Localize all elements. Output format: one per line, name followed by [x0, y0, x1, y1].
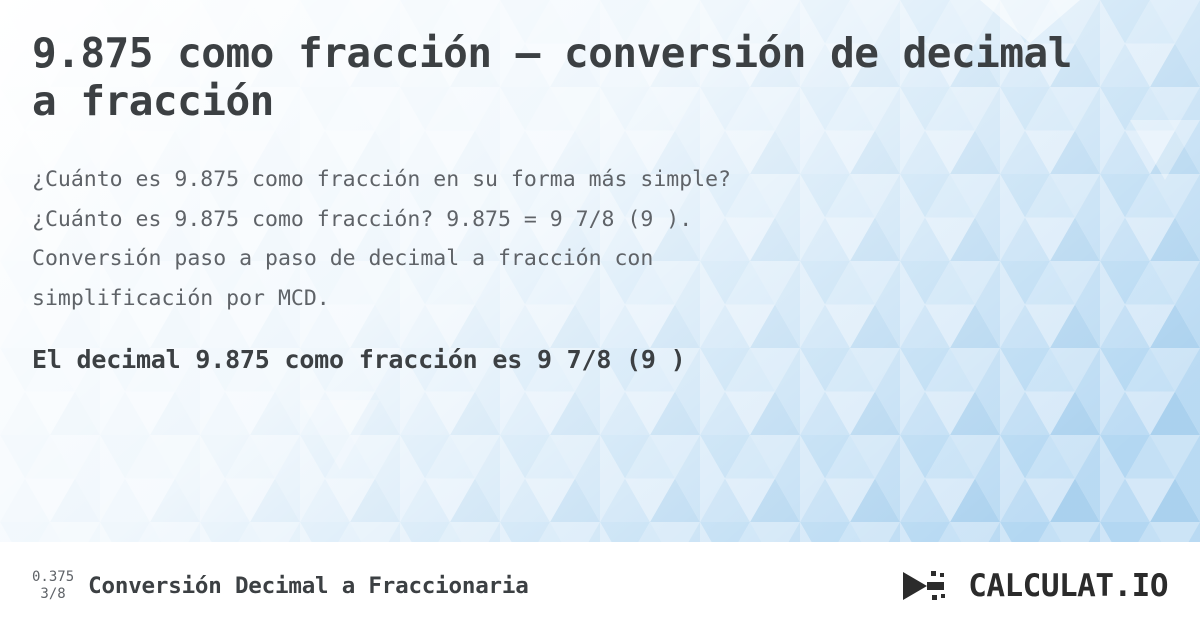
- page-title: 9.875 como fracción – conversión de deci…: [32, 30, 1092, 126]
- description-line: Conversión paso a paso de decimal a frac…: [32, 239, 1072, 279]
- calculator-arrow-icon: [901, 569, 961, 603]
- brand-group[interactable]: CALCULAT.IO: [901, 568, 1168, 604]
- brand-name: CALCULAT.IO: [968, 568, 1168, 604]
- page-root: 9.875 como fracción – conversión de deci…: [0, 0, 1200, 630]
- footer-left-group: 0.375 3/8 Conversión Decimal a Fracciona…: [32, 569, 529, 604]
- fraction-badge-decimal: 0.375: [32, 569, 74, 587]
- page-content: 9.875 como fracción – conversión de deci…: [0, 0, 1200, 374]
- description-line: ¿Cuánto es 9.875 como fracción en su for…: [32, 160, 1072, 200]
- answer-statement: El decimal 9.875 como fracción es 9 7/8 …: [32, 345, 1168, 374]
- description-line: ¿Cuánto es 9.875 como fracción? 9.875 = …: [32, 200, 1072, 240]
- fraction-badge-fraction: 3/8: [40, 586, 65, 604]
- footer-title: Conversión Decimal a Fraccionaria: [88, 573, 528, 599]
- page-description: ¿Cuánto es 9.875 como fracción en su for…: [32, 160, 1072, 319]
- description-line: simplificación por MCD.: [32, 279, 1072, 319]
- footer-bar: 0.375 3/8 Conversión Decimal a Fracciona…: [0, 542, 1200, 630]
- fraction-badge-icon: 0.375 3/8: [32, 569, 74, 604]
